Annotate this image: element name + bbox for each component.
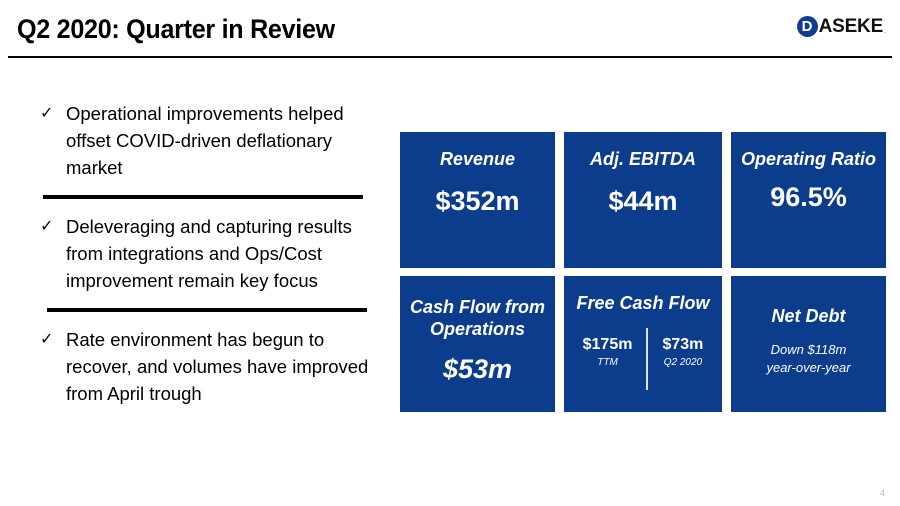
metric-split-values: $175m TTM $73m Q2 2020 xyxy=(569,328,718,390)
logo-circle-d-icon: D xyxy=(797,16,818,37)
metric-card-revenue: Revenue $352m xyxy=(400,132,555,268)
split-divider xyxy=(646,328,648,390)
checkmark-icon: ✓ xyxy=(40,326,66,353)
metric-card-cash-flow-from-operations: Cash Flow from Operations $53m xyxy=(400,276,555,412)
list-item: ✓ Rate environment has begun to recover,… xyxy=(40,326,370,407)
list-item: ✓ Deleveraging and capturing results fro… xyxy=(40,213,370,294)
metrics-grid: Revenue $352m Adj. EBITDA $44m Operating… xyxy=(400,132,886,412)
list-item-text: Deleveraging and capturing results from … xyxy=(66,213,370,294)
list-divider xyxy=(47,308,367,312)
logo-wordmark: ASEKE xyxy=(819,16,883,37)
list-divider xyxy=(43,195,363,199)
metric-value: $352m xyxy=(435,186,519,216)
metric-label: Adj. EBITDA xyxy=(590,148,696,170)
highlights-list: ✓ Operational improvements helped offset… xyxy=(40,100,370,407)
logo-trademark: . xyxy=(883,28,886,37)
header-divider xyxy=(8,56,892,58)
metric-subtext: Down $118m year-over-year xyxy=(766,341,850,377)
metric-split-ttm: $175m TTM xyxy=(569,328,647,390)
metric-value: $44m xyxy=(608,186,677,216)
metric-value: $53m xyxy=(443,354,512,384)
daseke-logo: D ASEKE . xyxy=(797,15,886,37)
metric-caption: TTM xyxy=(597,356,618,370)
checkmark-icon: ✓ xyxy=(40,213,66,240)
page-title: Q2 2020: Quarter in Review xyxy=(17,14,335,45)
metric-label: Operating Ratio xyxy=(741,148,876,170)
metric-subtext-line-1: Down $118m xyxy=(766,341,850,359)
metric-value: $175m xyxy=(583,336,633,354)
metric-card-operating-ratio: Operating Ratio 96.5% xyxy=(731,132,886,268)
checkmark-icon: ✓ xyxy=(40,100,66,127)
list-item-text: Operational improvements helped offset C… xyxy=(66,100,370,181)
metric-label: Free Cash Flow xyxy=(576,292,709,314)
metric-split-quarter: $73m Q2 2020 xyxy=(648,328,717,390)
metric-card-adj-ebitda: Adj. EBITDA $44m xyxy=(564,132,722,268)
metric-value: $73m xyxy=(662,336,703,354)
metric-caption: Q2 2020 xyxy=(664,356,702,370)
metric-subtext-line-2: year-over-year xyxy=(766,359,850,377)
metric-card-net-debt: Net Debt Down $118m year-over-year xyxy=(731,276,886,412)
metric-label: Cash Flow from Operations xyxy=(400,296,555,340)
metric-value: 96.5% xyxy=(770,182,847,212)
list-item-text: Rate environment has begun to recover, a… xyxy=(66,326,370,407)
list-item: ✓ Operational improvements helped offset… xyxy=(40,100,370,181)
metric-label: Revenue xyxy=(440,148,515,170)
page-number: 4 xyxy=(880,488,885,498)
slide: Q2 2020: Quarter in Review D ASEKE . ✓ O… xyxy=(0,0,900,506)
metric-label: Net Debt xyxy=(771,305,845,327)
metric-card-free-cash-flow: Free Cash Flow $175m TTM $73m Q2 2020 xyxy=(564,276,722,412)
